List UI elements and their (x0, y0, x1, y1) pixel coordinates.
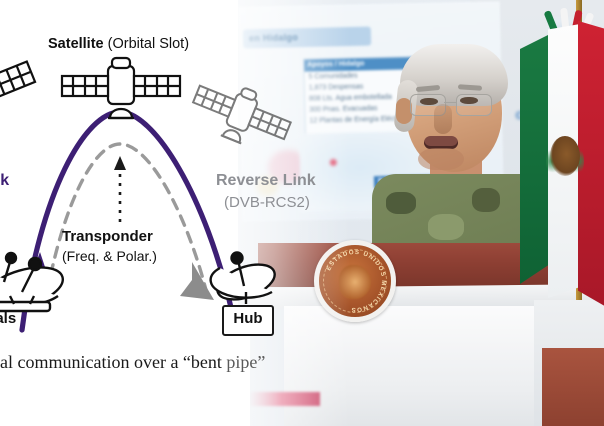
satellite-label-rest: (Orbital Slot) (104, 36, 189, 52)
mexican-flag (520, 18, 604, 348)
satellite-label: Satellite (Orbital Slot) (48, 36, 189, 52)
terminal-dish-icon (0, 253, 67, 316)
eye-left (420, 98, 438, 105)
screenshot-stage: en Hidalgo Apoyos / Hidalgo 5 Comunidade… (0, 0, 604, 426)
flag-stand-base (542, 348, 604, 426)
satellite-link-diagram: Satellite (Orbital Slot) ink X)) Reverse… (0, 0, 360, 426)
hub-label-box: Hub (222, 305, 274, 336)
glasses-bridge (444, 102, 457, 103)
caption-main: sical communication over a “bent (0, 352, 226, 372)
terminals-label: inals (0, 310, 16, 327)
reverse-link-arc (44, 144, 208, 310)
satellite-icon-right (186, 72, 297, 158)
nose (434, 104, 452, 134)
satellite-label-bold: Satellite (48, 36, 104, 52)
transponder-pointer-arrow (114, 156, 126, 170)
flag-eagle-icon (550, 136, 580, 176)
reverse-link-arrowhead (180, 262, 214, 300)
eye-right (460, 97, 478, 104)
satellite-icon-main (62, 58, 180, 118)
diagram-caption: sical communication over a “bent pipe” (0, 352, 265, 373)
reverse-link-label: Reverse Link (216, 172, 316, 190)
transponder-label: Transponder (62, 228, 153, 245)
camo-patch (386, 192, 416, 214)
forward-link-label: ink (0, 172, 9, 190)
eyeglasses (406, 92, 502, 116)
satellite-icon-left (0, 62, 35, 99)
reverse-link-sublabel: (DVB-RCS2) (224, 194, 310, 211)
chin (418, 148, 464, 170)
camo-patch (472, 188, 500, 212)
camo-patch (428, 214, 464, 240)
transponder-sublabel: (Freq. & Polar.) (62, 248, 157, 264)
hub-label-text: Hub (224, 307, 272, 331)
caption-faded: pipe” (226, 352, 265, 372)
